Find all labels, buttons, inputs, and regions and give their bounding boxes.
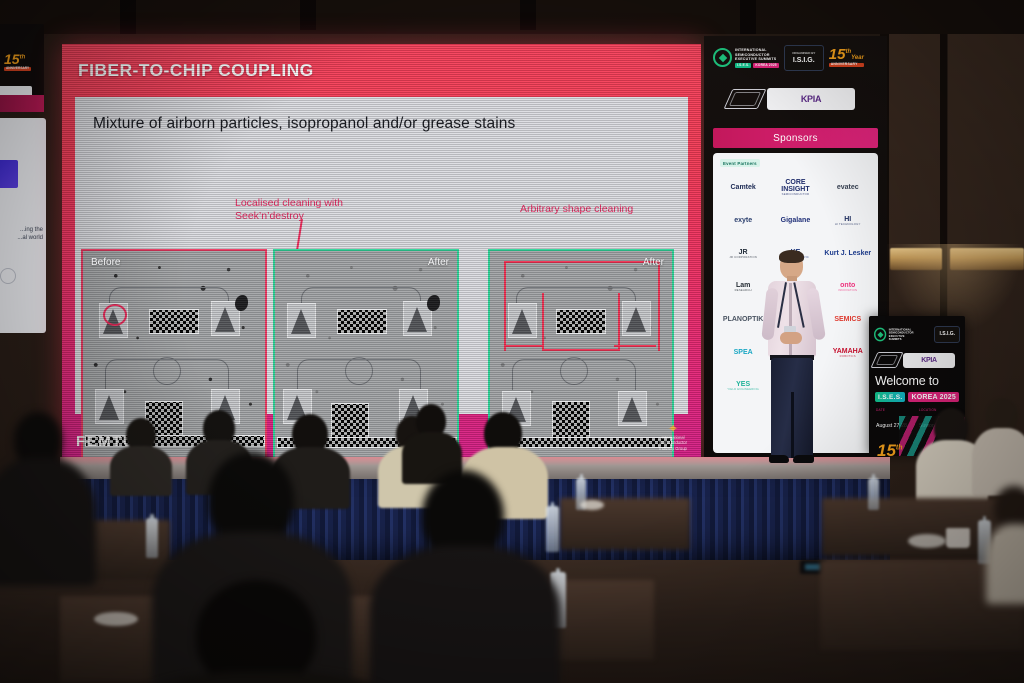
sponsor-name: SEMICS [834,316,861,323]
podium-ises-logo: INTERNATIONAL SEMICONDUCTOR EXECUTIVE SU… [874,327,915,341]
sponsor-name: YAMAHAROBOTICS [833,348,863,358]
podium-korea-badge: KOREA 2025 [908,392,959,402]
table-plate [580,500,604,510]
sponsors-header: Sponsors [713,128,878,148]
sponsor-name: ontoINNOVATION [838,282,857,292]
sponsor-logo: CORE INSIGHTSEMICONDUCTOR [769,171,821,204]
sponsor-name: JRJR CORPORATION [729,249,757,259]
table-cup [946,528,970,548]
sponsor-name: Camtek [731,184,756,191]
sponsor-logo: HIHI TECHNOLOGY [822,204,874,237]
presentation-screen: FIBER-TO-CHIP COUPLING Mixture of airbor… [62,44,701,457]
ceiling-slot-1 [120,0,136,34]
podium-welcome-text: Welcome to [875,374,939,388]
podium-diamond-icon [874,352,900,368]
podium-logo-row: INTERNATIONAL SEMICONDUCTOR EXECUTIVE SU… [874,321,960,347]
slide-headline: Mixture of airborn particles, isopropano… [93,115,515,133]
sponsor-name: exyte [734,217,752,224]
kpia-logo-text: KPIA [801,94,821,104]
audience-member [986,486,1024,596]
podium-isig-logo: I.S.I.G. [934,326,960,343]
audience-body [986,524,1024,604]
sponsor-subtitle: ROBOTICS [833,355,863,358]
speaker-shoe-right [793,455,814,463]
fiber-pad-tl-3 [508,303,537,338]
sponsor-subtitle: INNOVATION [838,289,857,292]
grating-coupler-top [149,309,199,334]
kpia-diamond-icon [728,89,762,109]
panel-label-after-2: After [643,257,664,268]
ceiling-band [0,0,1024,34]
ises-logo: INTERNATIONAL SEMICONDUCTOR EXECUTIVE SU… [713,48,779,68]
podium-kpia-logo: KPIA [903,353,955,368]
table-plate [908,534,946,548]
podium-anniversary-badge: 15th [877,444,903,456]
slide-title: FIBER-TO-CHIP COUPLING [78,60,314,81]
grating-coupler-top-3 [556,309,606,334]
sponsor-name: YESYIELD ENGINEERING [727,381,759,391]
banner-logo-row-bottom: KPIA [728,88,855,110]
annotation-localised-cleaning: Localised cleaning with Seek’n’destroy [235,197,343,223]
sponsor-logo: Gigalane [769,204,821,237]
podium-ises-badge: I.S.E.S. [875,392,905,402]
audience-head [196,580,316,683]
annotation-arbitrary-shape: Arbitrary shape cleaning [520,203,633,216]
podium-isig-text: I.S.I.G. [939,332,955,337]
sponsor-logo: exyte [717,204,769,237]
water-bottle [868,478,879,510]
speaker-hair [779,250,804,263]
speaker-hands-clicker [780,332,802,344]
sponsor-subtitle: HI TECHNOLOGY [835,223,861,226]
sponsor-logo: SEMICS [822,303,874,336]
sponsor-name: SPEA [734,349,753,356]
ring-resonator [153,357,181,385]
sponsor-name: Gigalane [781,217,811,224]
podium-ises-text: INTERNATIONAL SEMICONDUCTOR EXECUTIVE SU… [889,328,916,341]
slide-content-area: Mixture of airborn particles, isopropano… [75,97,688,414]
isig-star-icon: ✦ [659,424,687,434]
panel-label-before: Before [91,257,120,268]
sponsor-subtitle: JR CORPORATION [729,256,757,259]
ceiling-slot-4 [740,0,756,34]
audience-body [0,458,96,586]
sponsor-name: LamRESEARCH [735,282,752,292]
audience-body [120,672,410,683]
podium-date-label: DATE [876,408,907,412]
fiber-pad-tl-2 [287,303,316,338]
defect-highlight-circle [103,304,127,326]
speaker-shoe-left [769,455,789,463]
podium-event-badges: I.S.E.S. KOREA 2025 [875,392,959,402]
left-side-screen: ...ing the ...al world [0,118,46,333]
ises-hexagon-icon [713,48,732,67]
ises-logo-tags: I.S.E.S. KOREA 2025 [735,63,779,68]
fiber-pad-tr-3 [622,301,651,336]
sponsor-name: HIHI TECHNOLOGY [835,216,861,226]
sponsor-subtitle: RESEARCH [735,289,752,292]
ceiling-slot-3 [520,0,536,30]
podium-kpia-text: KPIA [921,357,937,364]
grating-coupler-top-2 [337,309,387,334]
anniversary-badge-banner: 15thYear ANNIVERSARY [829,49,864,67]
left-screen-ring-icon [0,268,16,284]
speaker-shirt-placket [789,283,792,355]
audience-member [972,398,1024,494]
left-magenta-bar [0,95,44,112]
sponsor-logo: Camtek [717,171,769,204]
ring-resonator-3 [560,357,588,385]
event-partners-tag: Event Partners [720,159,760,167]
speaker-presenter [762,252,824,472]
sponsor-subtitle: YIELD ENGINEERING [727,388,759,391]
sponsor-subtitle: SEMICONDUCTOR [771,193,819,196]
sponsor-name: evatec [837,184,859,191]
isig-logo-text: ORGANISED BY I.S.I.G. [792,52,815,64]
sponsor-name: Kurt J. Lesker [824,250,871,257]
speaker-leg-split [791,392,794,458]
conference-photo: 15th ANNIVERSARY ...ing the ...al world … [0,0,1024,683]
slide-footer-isig-logo: ✦ International Semiconductor Industry G… [659,424,687,451]
sponsor-logo: evatec [822,171,874,204]
ring-resonator-2 [345,357,373,385]
sponsors-header-label: Sponsors [773,133,818,144]
audience-member [0,412,96,582]
ceiling-slot-2 [300,0,316,30]
podium-hexagon-icon [874,327,887,341]
sponsor-logo: ontoINNOVATION [822,270,874,303]
panel-label-after-1: After [428,257,449,268]
isig-logo: ORGANISED BY I.S.I.G. [784,45,824,71]
left-screen-text: ...ing the ...al world [17,226,43,242]
sponsor-logo: Kurt J. Lesker [822,237,874,270]
cleaning-path-left-foot [504,345,544,351]
banner-logo-row-top: INTERNATIONAL SEMICONDUCTOR EXECUTIVE SU… [713,45,864,71]
sponsor-name: CORE INSIGHTSEMICONDUCTOR [771,179,819,196]
kpia-logo: KPIA [767,88,855,110]
cleaning-path-right-foot [614,345,656,351]
podium-kpia-row: KPIA [874,350,960,370]
audience-member [120,580,410,683]
left-screen-graphic [0,160,18,188]
ises-logo-text: INTERNATIONAL SEMICONDUCTOR EXECUTIVE SU… [735,48,779,68]
sponsor-logo: YAMAHAROBOTICS [822,336,874,369]
fiber-pad-br-3 [618,391,647,426]
anniversary-badge-left: 15th ANNIVERSARY [4,54,31,71]
sponsor-name: PLANOPTIK [723,316,763,323]
